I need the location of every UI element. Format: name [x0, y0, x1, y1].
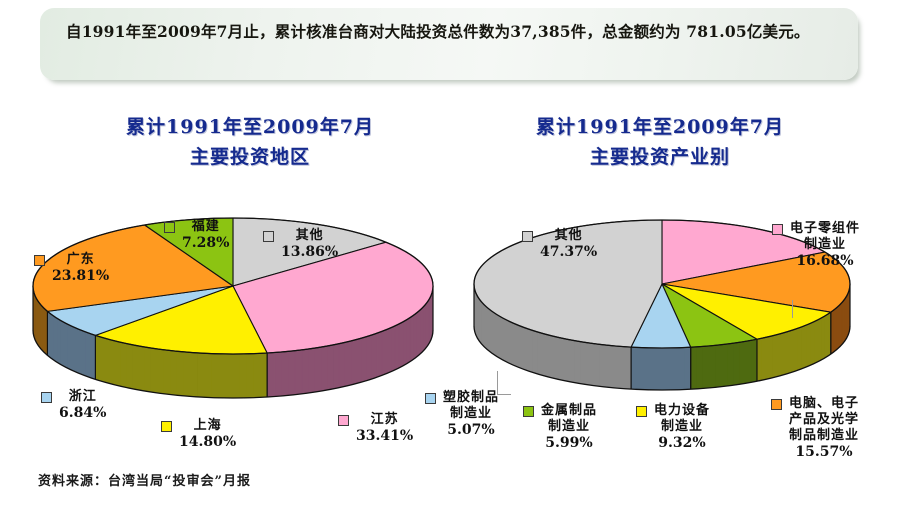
right-chart-title: 累计1991年至2009年7月 主要投资产业别: [465, 112, 855, 172]
label-region-zhejiang-name: 浙江: [59, 389, 106, 405]
label-industry-plastic-products-name-1: 塑胶制品: [443, 390, 499, 406]
swatch-region-guangdong: [34, 255, 45, 266]
label-region-shanghai-pct: 14.80%: [179, 434, 236, 450]
label-region-jiangsu-pct: 33.41%: [356, 428, 413, 444]
left-chart-title-line-1: 累计1991年至2009年7月: [55, 112, 445, 142]
swatch-industry-computer-optical: [771, 399, 782, 410]
label-region-other: 其他 13.86%: [263, 228, 338, 260]
left-chart-title-line-2: 主要投资地区: [55, 142, 445, 172]
label-region-jiangsu: 江苏 33.41%: [338, 412, 413, 444]
swatch-region-jiangsu: [338, 415, 349, 426]
banner-line-1: 自1991年至2009年7月止，累计核准台商对大陆投资总件数为37,385件，总…: [66, 22, 681, 41]
swatch-region-fujian: [164, 222, 175, 233]
label-region-jiangsu-name: 江苏: [356, 412, 413, 428]
swatch-industry-electrical-equipment: [636, 406, 647, 417]
label-industry-electrical-equipment-pct: 9.32%: [654, 435, 710, 451]
label-industry-electrical-equipment: 电力设备 制造业 9.32%: [636, 403, 710, 451]
label-industry-electronic-components-name-1: 电子零组件: [790, 221, 860, 237]
label-region-zhejiang: 浙江 6.84%: [41, 389, 106, 421]
label-industry-computer-optical: 电脑、电子 产品及光学 制品制造业 15.57%: [771, 396, 859, 460]
label-region-guangdong: 广东 23.81%: [34, 252, 109, 284]
label-industry-other: 其他 47.37%: [522, 228, 597, 260]
swatch-region-zhejiang: [41, 392, 52, 403]
swatch-industry-other: [522, 231, 533, 242]
swatch-industry-plastic-products: [425, 393, 436, 404]
label-industry-electronic-components-name-2: 制造业: [790, 237, 860, 253]
label-region-shanghai-name: 上海: [179, 418, 236, 434]
label-industry-computer-optical-name-3: 制品制造业: [789, 428, 859, 444]
label-region-other-name: 其他: [281, 228, 338, 244]
label-region-fujian: 福建 7.28%: [164, 219, 229, 251]
leader-line-plastic: [497, 371, 498, 395]
label-industry-metal-products-name-2: 制造业: [541, 419, 597, 435]
label-region-fujian-name: 福建: [182, 219, 229, 235]
label-industry-plastic-products-pct: 5.07%: [443, 422, 499, 438]
swatch-region-other: [263, 231, 274, 242]
label-industry-plastic-products: 塑胶制品 制造业 5.07%: [425, 390, 499, 438]
swatch-industry-electronic-components: [772, 224, 783, 235]
label-industry-computer-optical-pct: 15.57%: [789, 444, 859, 460]
label-industry-other-pct: 47.37%: [540, 244, 597, 260]
swatch-region-shanghai: [161, 421, 172, 432]
label-industry-electrical-equipment-name-2: 制造业: [654, 419, 710, 435]
label-region-zhejiang-pct: 6.84%: [59, 405, 106, 421]
label-industry-other-name: 其他: [540, 228, 597, 244]
swatch-industry-metal-products: [523, 406, 534, 417]
label-industry-metal-products-pct: 5.99%: [541, 435, 597, 451]
banner-text: 自1991年至2009年7月止，累计核准台商对大陆投资总件数为37,385件，总…: [66, 18, 840, 45]
left-chart-title: 累计1991年至2009年7月 主要投资地区: [55, 112, 445, 172]
label-industry-electronic-components: 电子零组件 制造业 16.68%: [772, 221, 860, 269]
right-chart-title-line-1: 累计1991年至2009年7月: [465, 112, 855, 142]
label-region-shanghai: 上海 14.80%: [161, 418, 236, 450]
label-industry-electrical-equipment-name-1: 电力设备: [654, 403, 710, 419]
label-region-guangdong-pct: 23.81%: [52, 268, 109, 284]
label-region-guangdong-name: 广东: [52, 252, 109, 268]
banner-line-2: 781.05亿美元。: [686, 22, 809, 41]
right-chart-title-line-2: 主要投资产业别: [465, 142, 855, 172]
leader-line-electronic-components: [792, 300, 793, 318]
label-industry-plastic-products-name-2: 制造业: [443, 406, 499, 422]
source-note: 资料来源：台湾当局“投审会”月报: [38, 470, 251, 489]
label-region-fujian-pct: 7.28%: [182, 235, 229, 251]
label-industry-metal-products-name-1: 金属制品: [541, 403, 597, 419]
label-industry-computer-optical-name-1: 电脑、电子: [789, 396, 859, 412]
label-industry-computer-optical-name-2: 产品及光学: [789, 412, 859, 428]
leader-line-plastic-h: [497, 394, 511, 395]
label-industry-electronic-components-pct: 16.68%: [790, 253, 860, 269]
label-region-other-pct: 13.86%: [281, 244, 338, 260]
label-industry-metal-products: 金属制品 制造业 5.99%: [523, 403, 597, 451]
header-banner: 自1991年至2009年7月止，累计核准台商对大陆投资总件数为37,385件，总…: [40, 8, 858, 80]
